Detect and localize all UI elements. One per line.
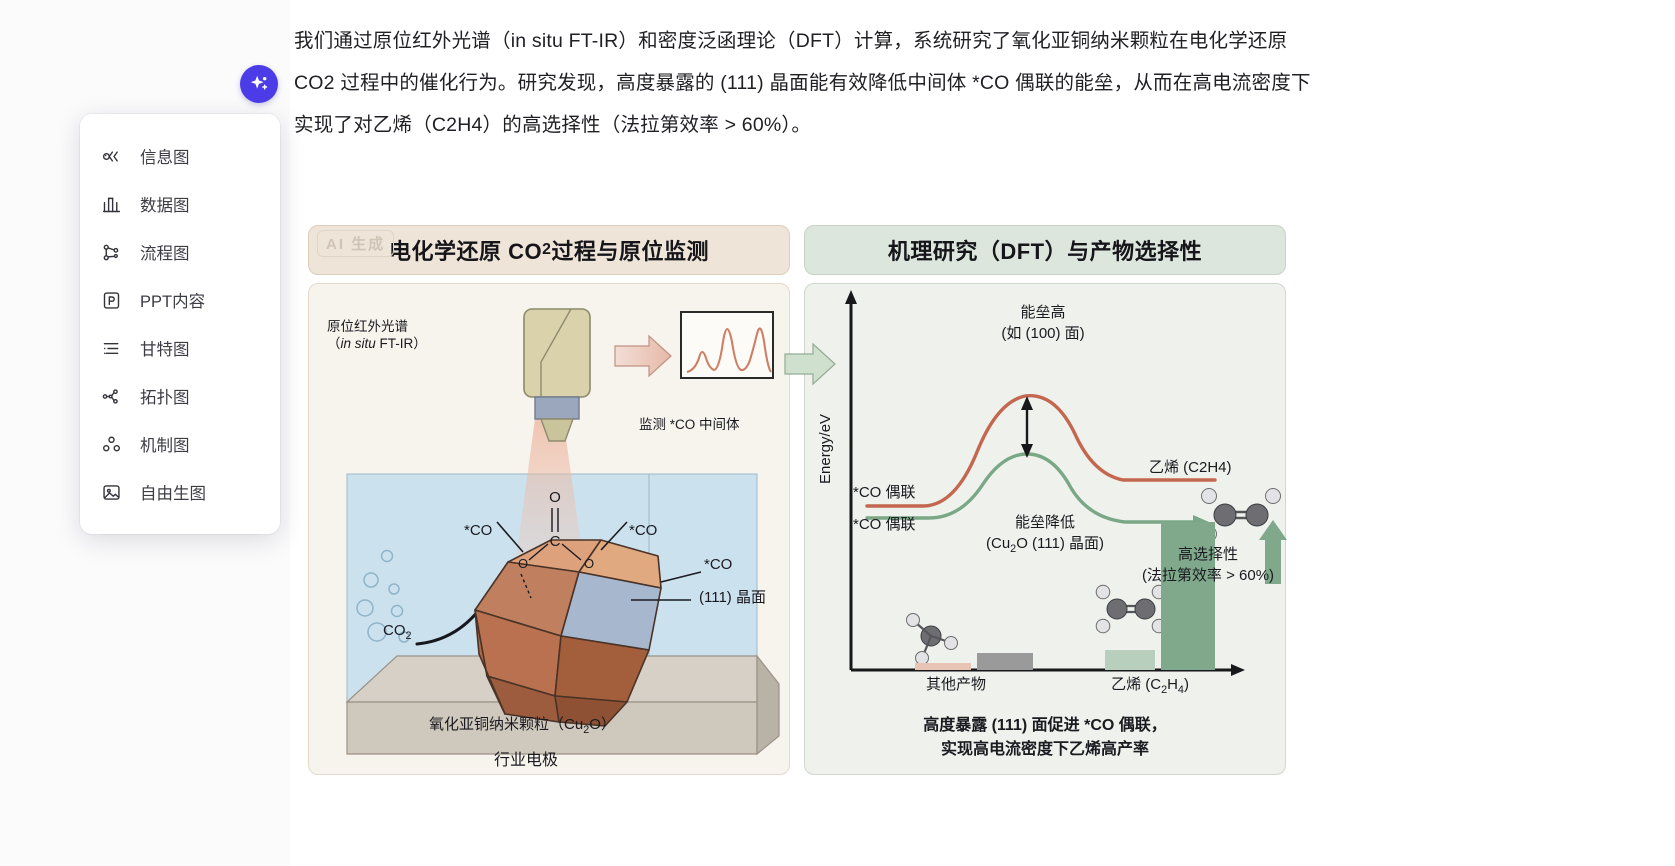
presentation-icon [100, 289, 122, 311]
infographic-icon [100, 145, 122, 167]
left-panel-title-sub: 2 [542, 241, 551, 259]
other-product-molecule [907, 614, 958, 665]
gantt-icon [100, 337, 122, 359]
x-label-ethylene: 乙烯 (C2H4) [1085, 676, 1215, 699]
document-paragraph: 我们通过原位红外光谱（in situ FT-IR）和密度泛函理论（DFT）计算，… [290, 20, 1344, 146]
product-red-label: 乙烯 (C2H4) [1149, 459, 1232, 476]
sparkle-glyph [248, 73, 270, 95]
o-right-atom: O [584, 556, 594, 571]
barrier-high-annotation: 能垒高 (如 (100) 面) [953, 302, 1133, 344]
menu-item-label: 机制图 [140, 432, 190, 456]
menu-item-flowchart[interactable]: 流程图 [80, 232, 280, 272]
selectivity-annotation: 高选择性 (法拉第效率 > 60%) [1123, 544, 1293, 586]
spectrum-caption: 监测 *CO 中间体 [639, 416, 740, 433]
menu-item-data-chart[interactable]: 数据图 [80, 184, 280, 224]
ai-watermark: AI 生成 [317, 230, 394, 257]
co-label-right: *CO [629, 522, 657, 539]
menu-item-label: 拓扑图 [140, 384, 190, 408]
mechanism-icon [100, 433, 122, 455]
menu-item-free-image[interactable]: 自由生图 [80, 472, 280, 512]
flowchart-icon [100, 241, 122, 263]
menu-item-label: PPT内容 [140, 288, 205, 312]
bar-chart-icon [100, 193, 122, 215]
c-atom: C [550, 533, 561, 550]
topology-icon [100, 385, 122, 407]
spectrometer-label: 原位红外光谱 （in situ FT-IR） [327, 318, 427, 352]
menu-item-ppt-content[interactable]: PPT内容 [80, 280, 280, 320]
menu-item-label: 自由生图 [140, 480, 206, 504]
barrier-low-annotation: 能垒降低 (Cu2O (111) 晶面) [945, 512, 1145, 560]
figure-panel-right: 机理研究（DFT）与产物选择性 [804, 225, 1286, 775]
electrode-label: 行业电极 [494, 752, 558, 769]
paren-open: （ [327, 336, 341, 351]
figure-panel-left: AI 生成 电化学还原 CO2 过程与原位监测 [308, 225, 790, 775]
left-panel-title-post: 过程与原位监测 [551, 234, 709, 266]
menu-item-label: 信息图 [140, 144, 190, 168]
start-label-lower: *CO 偶联 [853, 516, 916, 533]
menu-item-gantt[interactable]: 甘特图 [80, 328, 280, 368]
menu-item-mechanism[interactable]: 机制图 [80, 424, 280, 464]
menu-item-infographic[interactable]: 信息图 [80, 136, 280, 176]
spectrometer-label-line1: 原位红外光谱 [327, 319, 408, 334]
menu-item-label: 甘特图 [140, 336, 190, 360]
o-top-atom: O [549, 489, 561, 506]
facet-label: (111) 晶面 [699, 589, 766, 606]
bar-other-main [977, 653, 1033, 670]
start-label-upper: *CO 偶联 [853, 484, 916, 501]
ethylene-molecule-bar [1096, 585, 1166, 633]
left-panel-title: AI 生成 电化学还原 CO2 过程与原位监测 [308, 225, 790, 275]
menu-item-label: 数据图 [140, 192, 190, 216]
co-label-left: *CO [464, 522, 492, 539]
bar-other-control [915, 663, 971, 670]
left-panel-title-pre: 电化学还原 CO [389, 234, 542, 266]
right-panel-title: 机理研究（DFT）与产物选择性 [804, 225, 1286, 275]
x-label-other-products: 其他产物 [901, 676, 1011, 693]
ftir-text: FT-IR） [376, 336, 427, 351]
image-icon [100, 481, 122, 503]
o-left-atom: O [518, 556, 528, 571]
nanoparticle-label: 氧化亚铜纳米颗粒（Cu2O） [429, 716, 616, 739]
co-label-facet: *CO [704, 556, 732, 573]
bar-ethylene-control [1105, 650, 1155, 670]
co2-inlet-label: CO2 [383, 622, 412, 645]
y-axis-label: Energy/eV [817, 414, 834, 484]
menu-item-label: 流程图 [140, 240, 190, 264]
in-situ-italic: in situ [341, 336, 376, 351]
menu-item-topology[interactable]: 拓扑图 [80, 376, 280, 416]
sparkle-ai-icon[interactable] [240, 65, 278, 103]
left-panel-body: O C O O 原位红外光谱 （ [308, 283, 790, 775]
right-panel-body: Energy/eV 能垒高 (如 (100) 面) 能垒降低 (Cu2O (11… [804, 283, 1286, 775]
generated-figure[interactable]: AI 生成 电化学还原 CO2 过程与原位监测 [294, 225, 1294, 785]
right-panel-caption: 高度暴露 (111) 面促进 *CO 偶联， 实现高电流密度下乙烯高产率 [845, 714, 1245, 762]
chart-type-menu[interactable]: 信息图 数据图 流程图 [80, 114, 280, 534]
electrochemical-cell-diagram: O C O O [309, 284, 789, 774]
